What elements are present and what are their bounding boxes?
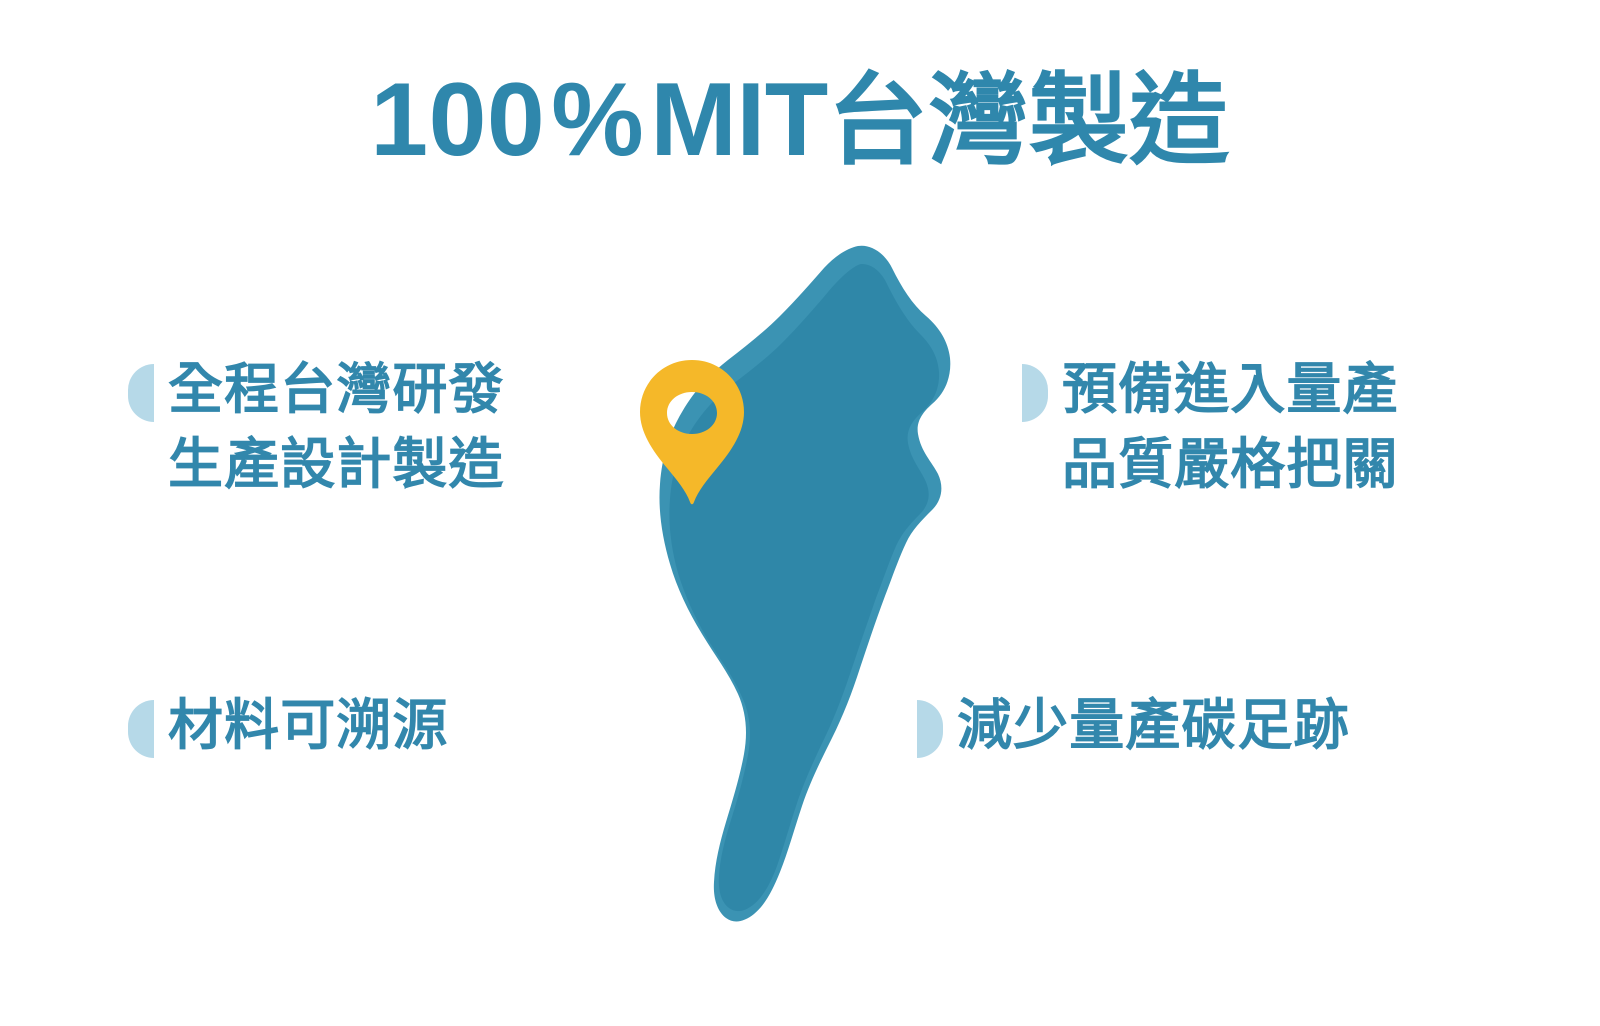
callout-line: 材料可溯源 xyxy=(168,688,449,763)
bullet-marker-icon xyxy=(1022,364,1048,422)
title-percent-number: 100 xyxy=(370,62,545,178)
callout-line: 全程台灣研發 xyxy=(168,352,505,427)
callout-line: 預備進入量產 xyxy=(1062,352,1399,427)
taiwan-map xyxy=(540,238,990,938)
callout-line: 品質嚴格把關 xyxy=(1062,427,1399,502)
callout-right-bottom-text: 減少量產碳足跡 xyxy=(957,688,1350,763)
title-text-group: 100%MIT台灣製造 xyxy=(370,68,1230,172)
callout-left-top[interactable]: 全程台灣研發 生產設計製造 xyxy=(128,352,505,502)
location-pin-icon[interactable] xyxy=(636,358,748,508)
bullet-marker-icon xyxy=(917,700,943,758)
callout-right-bottom[interactable]: 減少量產碳足跡 xyxy=(917,688,1350,763)
bullet-marker-icon xyxy=(128,700,154,758)
callout-left-top-text: 全程台灣研發 生產設計製造 xyxy=(168,352,505,502)
taiwan-map-svg xyxy=(540,238,990,938)
bullet-marker-icon xyxy=(128,364,154,422)
title-percent-symbol: % xyxy=(545,62,650,178)
location-pin[interactable] xyxy=(636,358,748,508)
callout-right-top[interactable]: 預備進入量產 品質嚴格把關 xyxy=(1022,352,1399,502)
callout-line: 生產設計製造 xyxy=(168,427,505,502)
callout-right-top-text: 預備進入量產 品質嚴格把關 xyxy=(1062,352,1399,502)
title-cjk-made-in-taiwan: 台灣製造 xyxy=(828,62,1230,179)
callout-line: 減少量產碳足跡 xyxy=(957,688,1350,763)
title-abbr-mit: MIT xyxy=(650,62,828,178)
pin-teardrop-shape xyxy=(640,360,744,504)
page-title: 100%MIT台灣製造 xyxy=(0,68,1600,172)
callout-left-bottom-text: 材料可溯源 xyxy=(168,688,449,763)
callout-left-bottom[interactable]: 材料可溯源 xyxy=(128,688,449,763)
mit-taiwan-infographic: 100%MIT台灣製造 全程台灣研發 生產設計製造 材料可溯源 xyxy=(0,0,1600,1026)
